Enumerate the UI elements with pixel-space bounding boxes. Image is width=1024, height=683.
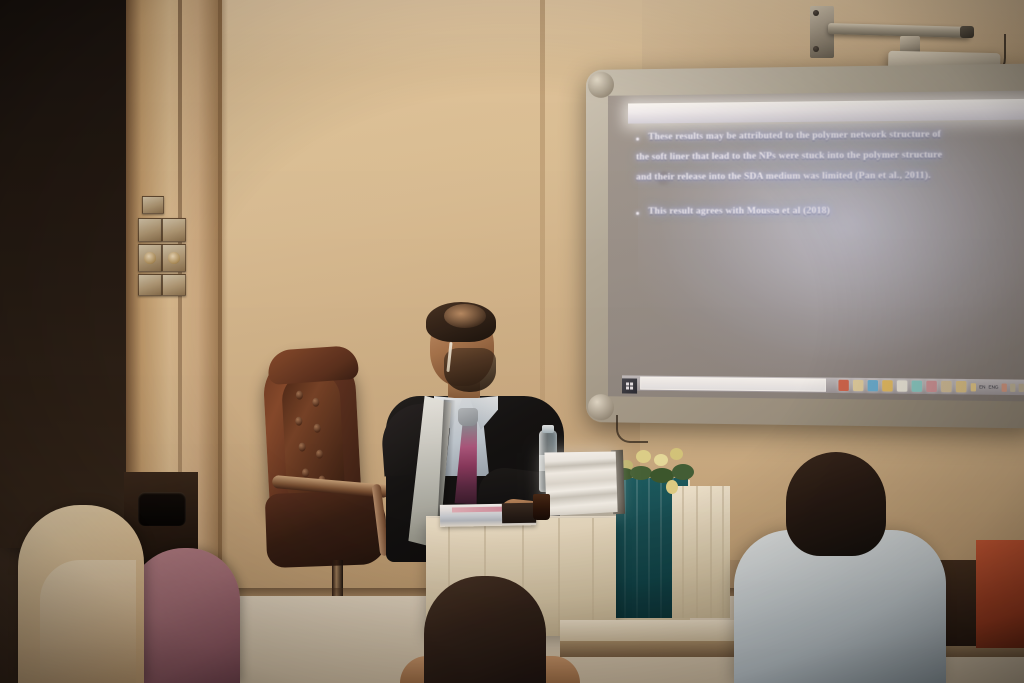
battery-icon[interactable] (1010, 383, 1015, 391)
drink-cup (533, 494, 550, 520)
skirt-fold (648, 478, 650, 618)
photo-viewer-icon[interactable] (956, 381, 967, 392)
action-center-icon[interactable] (1019, 383, 1024, 391)
chair-tuft (298, 442, 305, 451)
pillar-edge-shadow (218, 0, 228, 640)
mount-bolt-bottom (813, 46, 819, 52)
slide-bullet-1: These results may be attributed to the p… (622, 130, 1024, 184)
skirt-fold (636, 478, 638, 618)
presentation-photo-scene: These results may be attributed to the p… (0, 0, 1024, 683)
slide-bullet-2: This result agrees with Moussa et al (20… (622, 206, 1024, 217)
slide-line: These results may be attributed to the p… (622, 130, 1024, 143)
switch-plate-b[interactable] (162, 218, 186, 242)
projection-surface[interactable]: These results may be attributed to the p… (608, 91, 1024, 402)
media-player-icon[interactable] (926, 381, 937, 392)
waste-bin-opening (138, 492, 186, 526)
start-button[interactable] (622, 378, 637, 393)
taskbar-window-tab[interactable] (640, 377, 826, 392)
rocker-a[interactable] (144, 252, 156, 263)
projection-top-strip (628, 99, 1024, 124)
windows-taskbar[interactable]: EN ENG (622, 375, 1024, 395)
outlet-b[interactable] (162, 244, 186, 272)
skirt-fold (710, 486, 712, 618)
slide-content: These results may be attributed to the p… (622, 130, 1024, 228)
chair-tuft (296, 390, 303, 399)
document-accent-sheet (452, 507, 508, 513)
presenter-laptop[interactable] (544, 452, 617, 517)
skirt-fold (682, 486, 684, 618)
bullet-dot-icon (636, 211, 639, 214)
wall-switch-panel[interactable] (136, 196, 188, 320)
cloth-fold (558, 518, 560, 636)
slide-line: This result agrees with Moussa et al (20… (622, 206, 1024, 217)
flower-leaf (630, 466, 652, 480)
outlet-a[interactable] (138, 244, 162, 272)
whiteboard-cable (616, 415, 648, 443)
switch-plate-d[interactable] (162, 274, 186, 296)
chair-tuft (313, 424, 320, 433)
taskbar-pinned-icons[interactable] (838, 380, 966, 393)
switch-plate-c[interactable] (138, 274, 162, 296)
volume-icon[interactable] (1002, 383, 1007, 391)
skirt-fold (696, 486, 698, 618)
chair-tuft (295, 417, 302, 426)
switch-plate-a[interactable] (138, 218, 162, 242)
skirt-fold (660, 478, 662, 618)
chair-headrest (267, 345, 359, 385)
flower-arrangement (614, 444, 698, 496)
bullet-dot-icon (636, 138, 639, 141)
skirt-fold (722, 486, 724, 618)
flower-leaf (672, 464, 694, 480)
flower-petal (666, 480, 678, 494)
chrome-icon[interactable] (838, 380, 848, 391)
excel-icon[interactable] (912, 380, 923, 391)
slide-spacer (622, 193, 1024, 208)
chair-tuft (312, 398, 319, 407)
mount-bolt-top (813, 10, 819, 16)
powerpoint-icon[interactable] (882, 380, 892, 391)
tray-input-label[interactable]: ENG (989, 384, 999, 389)
rocker-b[interactable] (168, 252, 180, 263)
frame-corner-top-left (588, 72, 614, 98)
interactive-whiteboard[interactable]: These results may be attributed to the p… (586, 63, 1024, 428)
pdf-reader-icon[interactable] (941, 381, 952, 392)
bottle-cap (542, 425, 554, 433)
chair-tuft (302, 468, 309, 477)
folder-icon[interactable] (853, 380, 863, 391)
chair-tuft (316, 450, 323, 459)
audience-hijab-rose (128, 548, 240, 683)
table-skirt-cream (672, 486, 730, 618)
cloth-fold (592, 518, 594, 636)
presenter-tie-knot (458, 408, 478, 426)
audience-orange (976, 540, 1024, 648)
audience-man-head (786, 452, 886, 556)
flower-petal (636, 450, 651, 463)
word-icon[interactable] (897, 380, 907, 391)
slide-line: the soft liner that lead to the NPs were… (622, 151, 1024, 164)
audience-hijab-cream-fold (40, 560, 136, 683)
presenter-forehead (444, 304, 486, 328)
flower-petal (654, 454, 668, 466)
tray-language-label[interactable]: EN (979, 384, 985, 389)
dark-doorway (0, 0, 132, 548)
network-icon[interactable] (971, 383, 976, 391)
system-tray[interactable]: EN ENG (971, 383, 1024, 392)
windows-logo-icon (626, 382, 633, 389)
switch-plate-top[interactable] (142, 196, 164, 214)
flower-petal (670, 448, 683, 460)
edge-icon[interactable] (868, 380, 878, 391)
audience-child (424, 576, 546, 683)
presenter-beard (444, 348, 496, 392)
bound-thesis (502, 503, 536, 524)
chair-seat (265, 490, 388, 568)
slide-line: and their release into the SDA medium wa… (622, 172, 1024, 184)
frame-corner-bottom-left (588, 394, 614, 420)
